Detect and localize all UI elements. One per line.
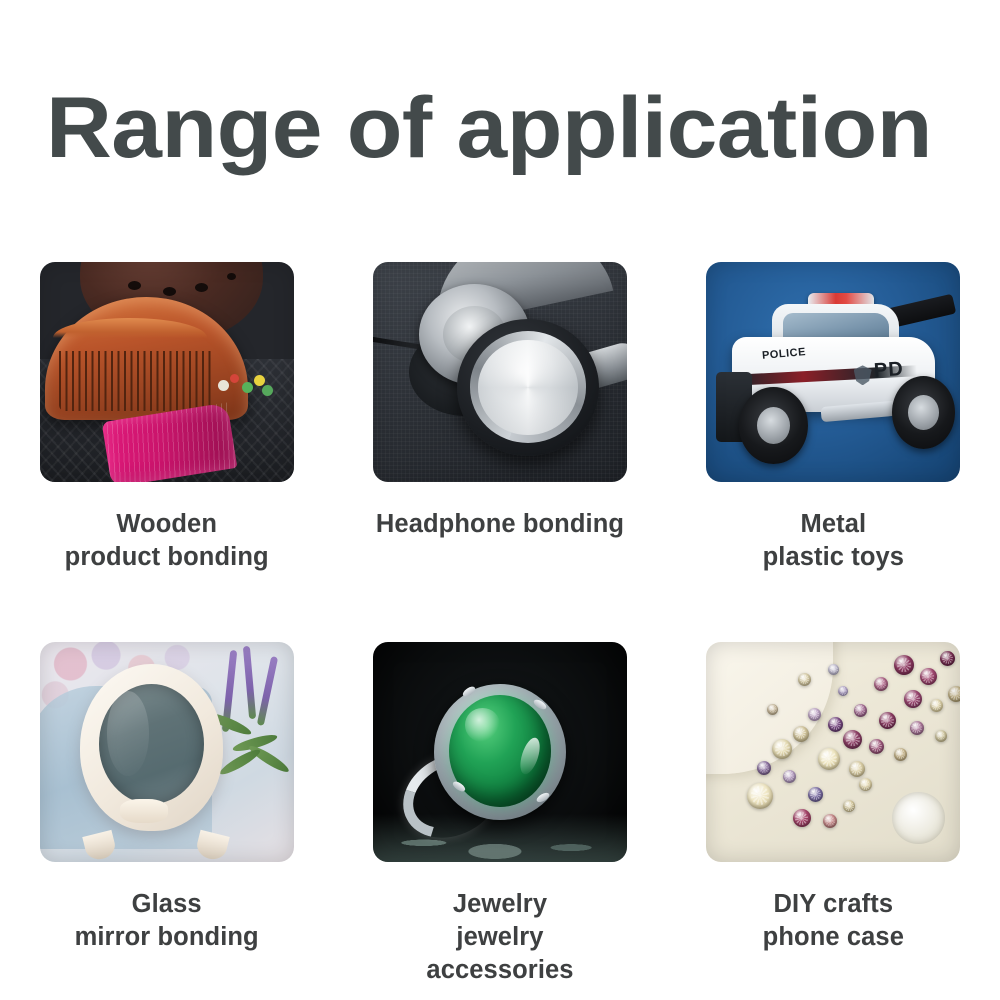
wooden-comb-illustration bbox=[40, 262, 294, 482]
thumbnail-jade-ring[interactable] bbox=[373, 642, 627, 862]
infographic-page: Range of application bbox=[0, 0, 1000, 1000]
thumbnail-police-toy-truck[interactable]: POLICE PD bbox=[706, 262, 960, 482]
rhinestone-gem bbox=[772, 739, 792, 759]
front-wheel-shape bbox=[739, 387, 808, 464]
rhinestone-gem bbox=[843, 730, 862, 749]
caption-line: accessories bbox=[333, 954, 666, 987]
rhinestone-gem bbox=[818, 748, 840, 770]
caption-wooden-product-bonding: Wooden product bonding bbox=[0, 508, 333, 574]
mirror-glass-shape bbox=[99, 684, 204, 804]
near-earcup-shape bbox=[457, 319, 599, 455]
rhinestone-gem bbox=[859, 778, 872, 791]
application-card-diy-crafts-phone-case[interactable]: DIY crafts phone case bbox=[667, 642, 1000, 1000]
application-card-wooden-product-bonding[interactable]: Wooden product bonding bbox=[0, 262, 333, 642]
caption-diy-crafts-phone-case: DIY crafts phone case bbox=[667, 888, 1000, 954]
thumbnail-wooden-comb[interactable] bbox=[40, 262, 294, 482]
application-card-metal-plastic-toys[interactable]: POLICE PD Metal plastic toys bbox=[667, 262, 1000, 642]
police-truck-illustration: POLICE PD bbox=[706, 262, 960, 482]
application-card-headphone-bonding[interactable]: Headphone bonding bbox=[333, 262, 666, 642]
rhinestone-gem bbox=[793, 726, 809, 742]
rhinestone-gem bbox=[894, 748, 907, 761]
rhinestone-gem bbox=[828, 664, 839, 675]
vanity-mirror-illustration bbox=[40, 642, 294, 862]
caption-line: product bonding bbox=[0, 541, 333, 574]
thumbnail-rhinestone-phone-case[interactable] bbox=[706, 642, 960, 862]
rhinestone-gem bbox=[935, 730, 947, 742]
rhinestone-gem bbox=[849, 761, 865, 777]
caption-line: DIY crafts bbox=[667, 888, 1000, 921]
carved-ornament-shape bbox=[120, 799, 168, 822]
rhinestone-gem bbox=[904, 690, 922, 708]
caption-glass-mirror-bonding: Glass mirror bonding bbox=[0, 888, 333, 954]
caption-line: jewelry bbox=[333, 921, 666, 954]
rhinestone-gem bbox=[793, 809, 811, 827]
caption-line: Jewelry bbox=[333, 888, 666, 921]
thumbnail-vanity-mirror[interactable] bbox=[40, 642, 294, 862]
caption-metal-plastic-toys: Metal plastic toys bbox=[667, 508, 1000, 574]
application-card-jewelry-accessories[interactable]: Jewelry jewelry accessories bbox=[333, 642, 666, 1000]
rhinestone-gem bbox=[808, 787, 823, 802]
rhinestone-gem bbox=[940, 651, 955, 666]
rear-wheel-shape bbox=[892, 376, 956, 449]
truck-text-pd: PD bbox=[873, 358, 904, 383]
rhinestone-gem bbox=[920, 668, 937, 685]
rhinestone-gem bbox=[823, 814, 837, 828]
rhinestone-gem bbox=[843, 800, 855, 812]
mirror-frame-shape bbox=[80, 664, 222, 831]
rhinestone-gem bbox=[879, 712, 896, 729]
rhinestone-gem bbox=[757, 761, 771, 775]
headphones-illustration bbox=[373, 262, 627, 482]
rhinestone-gem bbox=[894, 655, 914, 675]
bead-cluster-shape bbox=[216, 372, 278, 402]
page-title: Range of application bbox=[46, 78, 1000, 178]
caption-line: Metal bbox=[667, 508, 1000, 541]
caption-line: plastic toys bbox=[667, 541, 1000, 574]
rhinestone-gem bbox=[808, 708, 821, 721]
caption-line: Wooden bbox=[0, 508, 333, 541]
rhinestone-gem bbox=[767, 704, 778, 715]
thumbnail-headphones[interactable] bbox=[373, 262, 627, 482]
rhinestone-gem bbox=[948, 686, 961, 702]
rhinestone-gem bbox=[854, 704, 867, 717]
jade-ring-illustration bbox=[373, 642, 627, 862]
caption-line: mirror bonding bbox=[0, 921, 333, 954]
rhinestone-case-illustration bbox=[706, 642, 960, 862]
application-card-glass-mirror-bonding[interactable]: Glass mirror bonding bbox=[0, 642, 333, 1000]
rhinestone-gem bbox=[838, 686, 848, 696]
rhinestone-gem bbox=[783, 770, 796, 783]
rhinestone-gem bbox=[910, 721, 924, 735]
rhinestone-gem bbox=[930, 699, 943, 712]
rhinestone-gem bbox=[828, 717, 843, 732]
application-grid: Wooden product bonding bbox=[0, 262, 1000, 1000]
caption-headphone-bonding: Headphone bonding bbox=[333, 508, 666, 541]
rhinestone-gem bbox=[747, 783, 773, 809]
caption-line: Headphone bonding bbox=[333, 508, 666, 541]
rhinestone-gem bbox=[798, 673, 811, 686]
rhinestone-gem bbox=[869, 739, 884, 754]
caption-line: Glass bbox=[0, 888, 333, 921]
caption-jewelry-accessories: Jewelry jewelry accessories bbox=[333, 888, 666, 987]
caption-line: phone case bbox=[667, 921, 1000, 954]
rhinestone-gem bbox=[874, 677, 888, 691]
camera-lens-shape bbox=[892, 792, 945, 845]
